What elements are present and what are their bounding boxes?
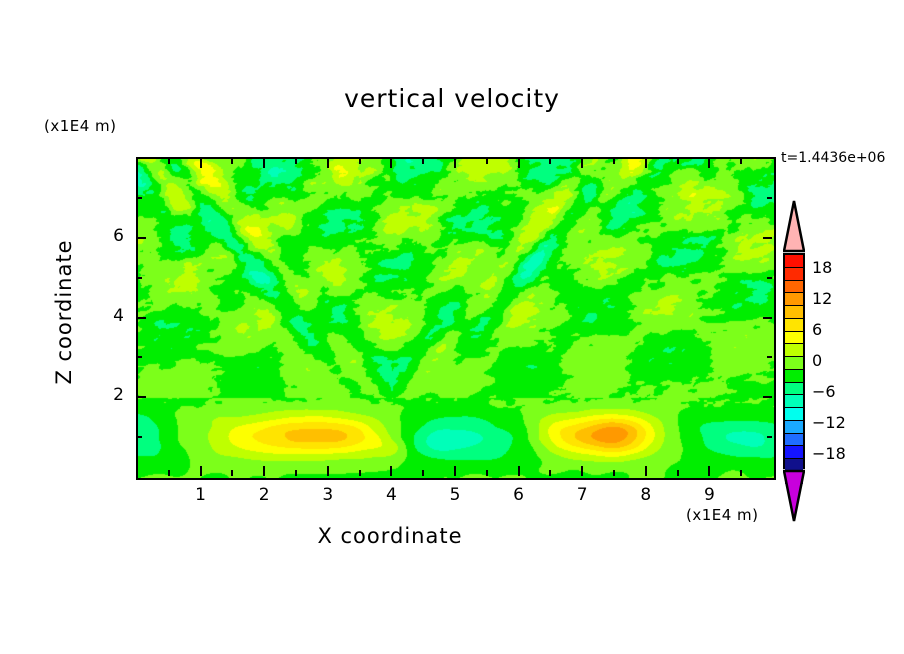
axis-tick [390, 159, 392, 168]
axis-tick [763, 317, 772, 319]
axis-tick [645, 159, 647, 168]
y-tick-label: 6 [84, 226, 124, 246]
axis-tick [295, 159, 297, 164]
axis-tick [168, 470, 170, 476]
axis-tick [327, 466, 329, 476]
colorbar-band [785, 434, 803, 447]
y-tick-label: 2 [84, 385, 124, 405]
colorbar-band [785, 421, 803, 434]
chart-title: vertical velocity [0, 84, 904, 113]
axis-tick [763, 237, 772, 239]
axis-tick [518, 466, 520, 476]
x-tick-label: 6 [499, 485, 539, 505]
colorbar-tick-label: 6 [812, 320, 822, 339]
axis-tick [740, 159, 742, 164]
axis-tick [422, 470, 424, 476]
axis-tick [767, 197, 772, 199]
axis-tick [763, 396, 772, 398]
contour-plot-area [136, 157, 776, 480]
axis-tick [645, 466, 647, 476]
axis-tick [327, 159, 329, 168]
colorbar-band [785, 395, 803, 408]
axis-tick [613, 470, 615, 476]
axis-tick [136, 317, 146, 319]
x-tick-label: 8 [626, 485, 666, 505]
colorbar-band [785, 446, 803, 459]
axis-tick [708, 466, 710, 476]
axis-tick [136, 277, 142, 279]
axis-tick [581, 159, 583, 168]
colorbar-band [785, 332, 803, 345]
axis-tick [136, 237, 146, 239]
axis-tick [136, 356, 142, 358]
x-tick-label: 9 [689, 485, 729, 505]
colorbar-band [785, 344, 803, 357]
axis-tick [613, 159, 615, 164]
x-tick-label: 4 [371, 485, 411, 505]
y-tick-label: 4 [84, 306, 124, 326]
colorbar-band [785, 357, 803, 370]
x-tick-label: 7 [562, 485, 602, 505]
colorbar-tick-label: 18 [812, 258, 832, 277]
axis-tick [486, 159, 488, 164]
axis-tick [454, 159, 456, 168]
colorbar-cap-top [783, 199, 805, 253]
axis-tick [581, 466, 583, 476]
colorbar-band [785, 370, 803, 383]
axis-tick [200, 159, 202, 168]
x-tick-label: 2 [244, 485, 284, 505]
y-axis-label: Z coordinate [52, 212, 76, 412]
axis-tick [740, 470, 742, 476]
axis-tick [518, 159, 520, 168]
colorbar-band [785, 408, 803, 421]
axis-tick [767, 356, 772, 358]
axis-tick [422, 159, 424, 164]
z-axis-units: (x1E4 m) [44, 117, 117, 135]
axis-tick [136, 396, 146, 398]
colorbar-tick-label: 12 [812, 289, 832, 308]
colorbar-band [785, 306, 803, 319]
axis-tick [359, 470, 361, 476]
axis-tick [295, 470, 297, 476]
time-annotation: t=1.4436e+06 [781, 150, 885, 166]
colorbar-band [785, 255, 803, 268]
axis-tick [231, 159, 233, 164]
axis-tick [390, 466, 392, 476]
colorbar-band [785, 268, 803, 281]
x-tick-label: 1 [181, 485, 221, 505]
axis-tick [767, 277, 772, 279]
colorbar-band [785, 281, 803, 294]
colorbar-band [785, 293, 803, 306]
axis-tick [549, 470, 551, 476]
axis-tick [454, 466, 456, 476]
vertical-velocity-field [138, 159, 774, 478]
colorbar-tick-label: −18 [812, 444, 846, 463]
colorbar-tick-label: −6 [812, 382, 836, 401]
x-axis-label: X coordinate [0, 524, 780, 548]
x-tick-label: 3 [308, 485, 348, 505]
colorbar-tick-label: 0 [812, 351, 822, 370]
axis-tick [136, 197, 142, 199]
axis-tick [549, 159, 551, 164]
x-axis-units: (x1E4 m) [686, 506, 759, 524]
colorbar-tick-label: −12 [812, 413, 846, 432]
colorbar [783, 253, 805, 469]
axis-tick [263, 466, 265, 476]
axis-tick [767, 436, 772, 438]
axis-tick [359, 159, 361, 164]
axis-tick [168, 159, 170, 164]
axis-tick [263, 159, 265, 168]
axis-tick [677, 159, 679, 164]
axis-tick [486, 470, 488, 476]
colorbar-band [785, 319, 803, 332]
axis-tick [136, 436, 142, 438]
colorbar-cap-bottom [783, 469, 805, 523]
colorbar-band [785, 383, 803, 396]
axis-tick [677, 470, 679, 476]
axis-tick [200, 466, 202, 476]
axis-tick [231, 470, 233, 476]
axis-tick [708, 159, 710, 168]
x-tick-label: 5 [435, 485, 475, 505]
